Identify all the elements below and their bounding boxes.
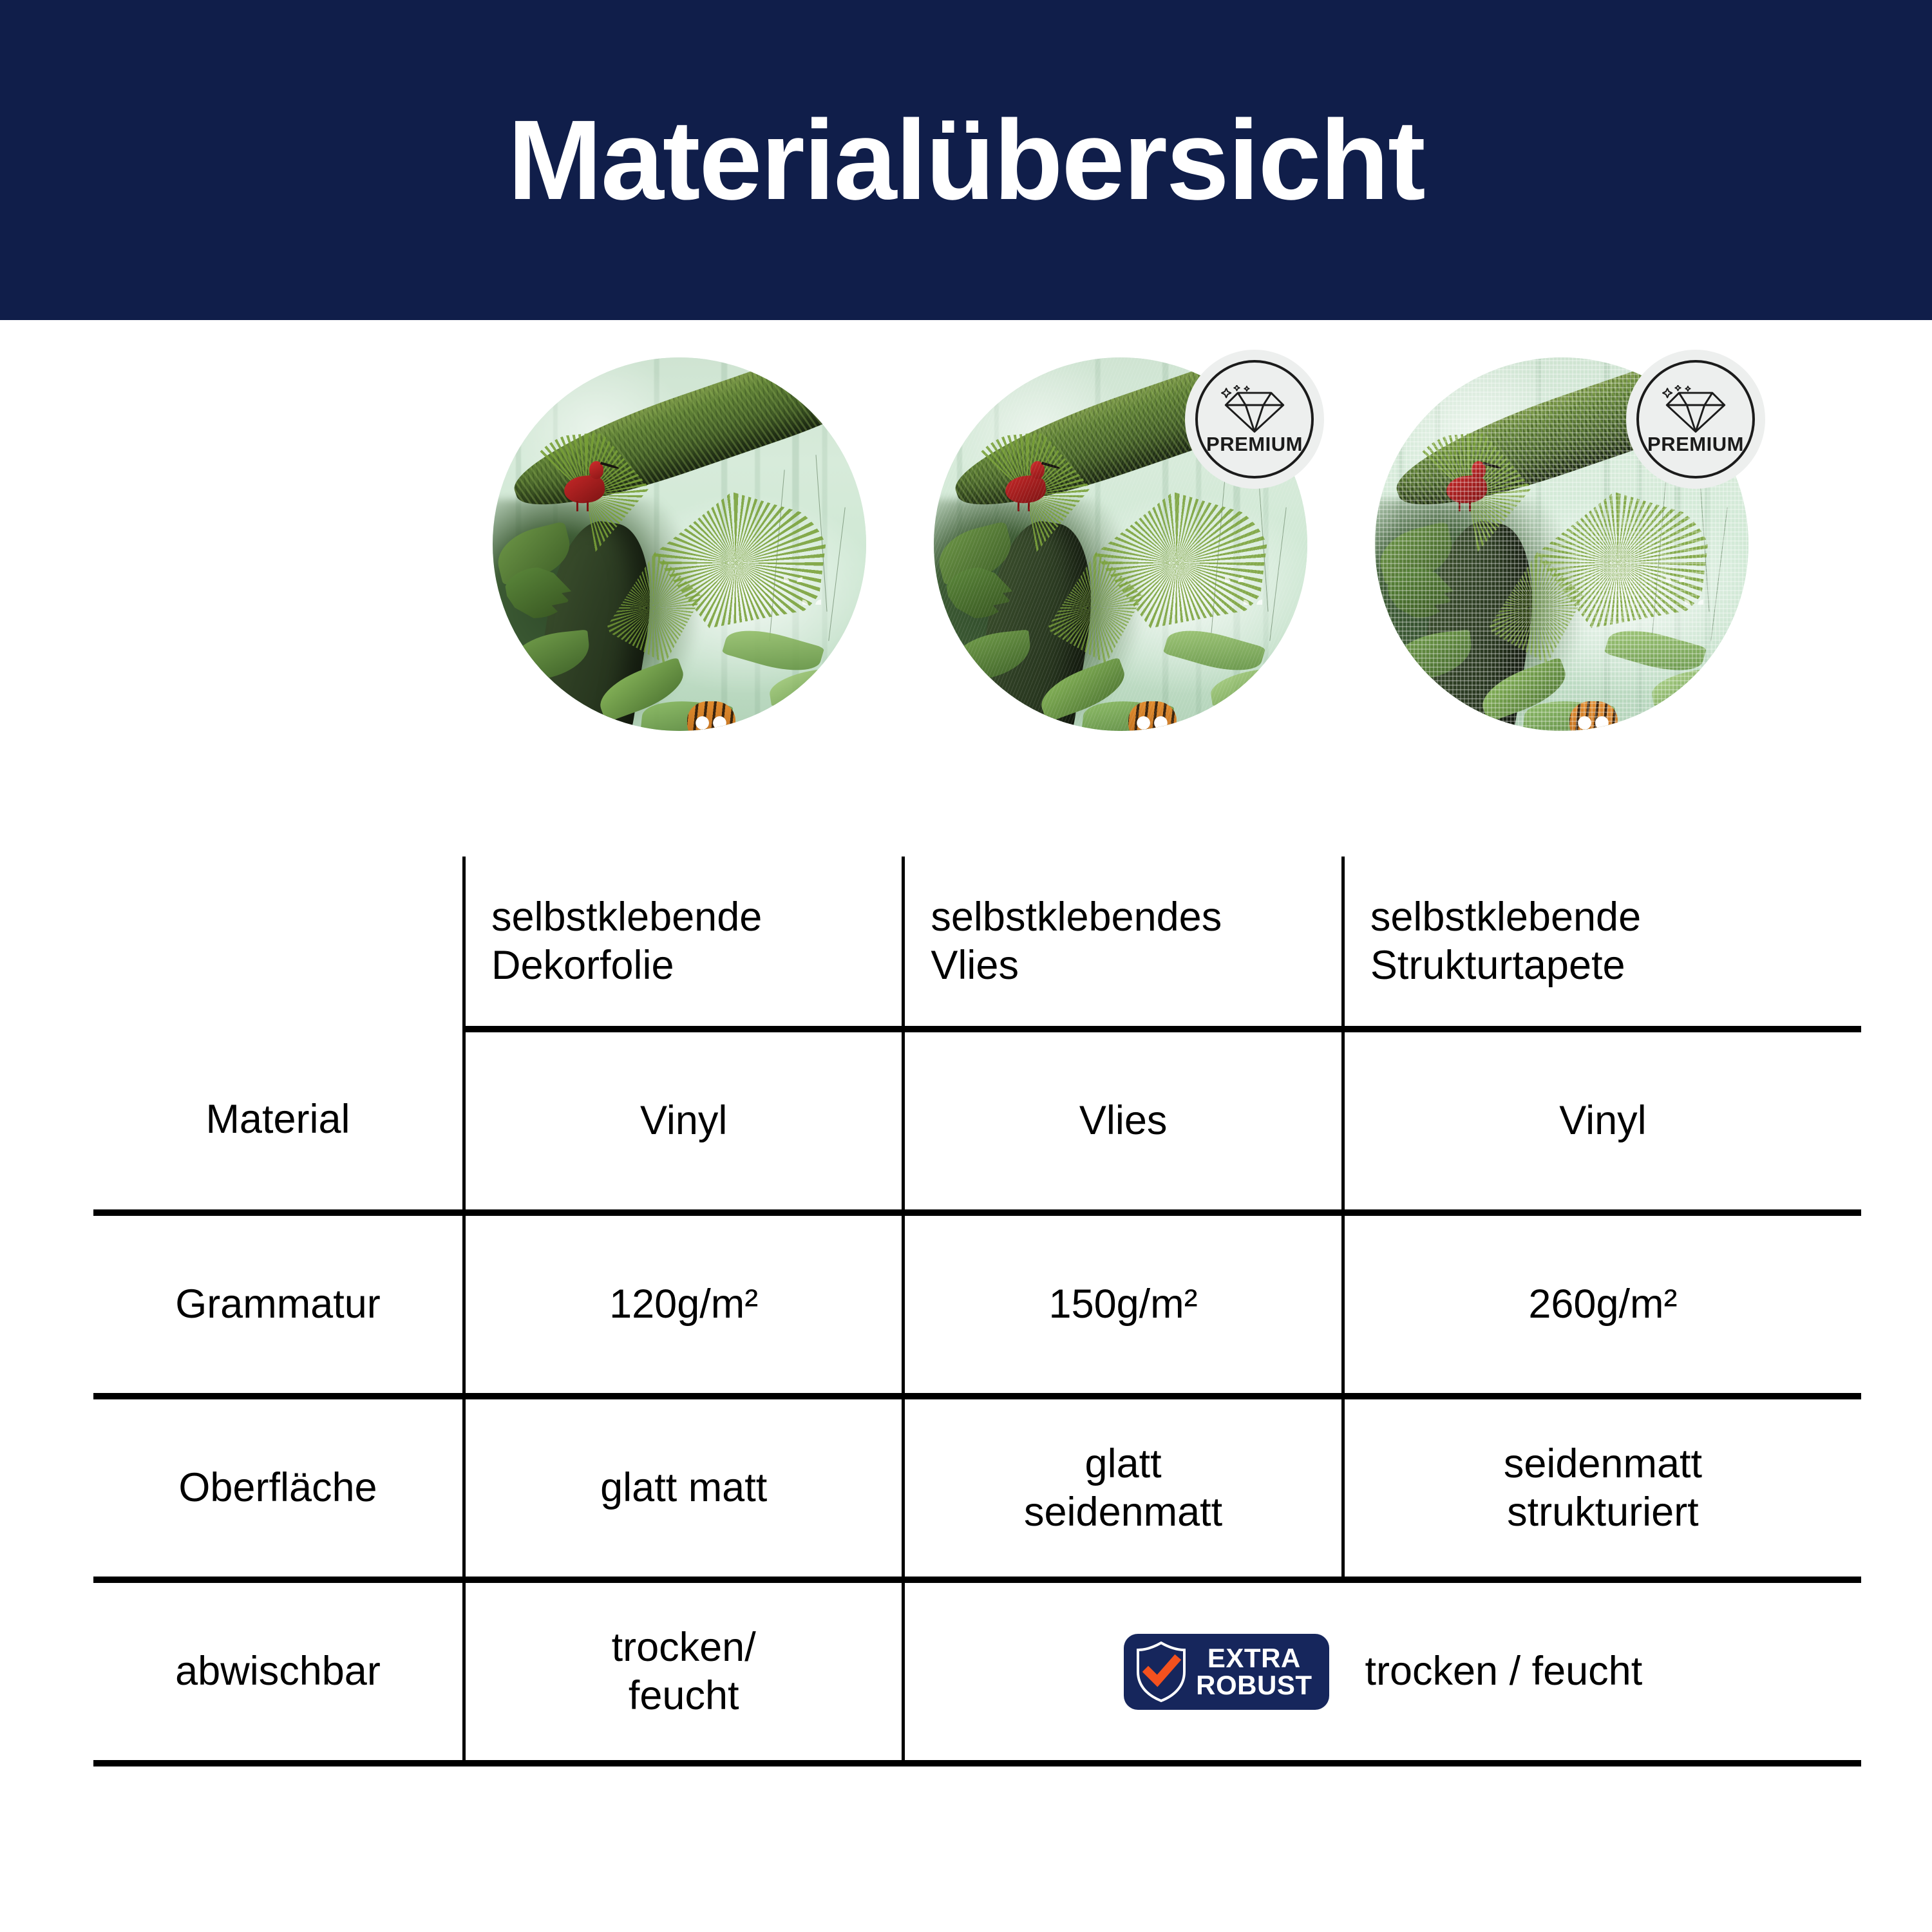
cell-material-dekorfolie: Vinyl	[464, 1029, 903, 1213]
premium-badge-vlies: PREMIUM	[1185, 350, 1324, 489]
cell-line2: feucht	[629, 1673, 739, 1718]
distant-bird-icon	[784, 574, 802, 582]
cell-line1: seidenmatt	[1504, 1441, 1702, 1486]
cell-oberflaeche-vlies: glatt seidenmatt	[904, 1396, 1343, 1580]
cell-abwischbar-merged-value: trocken / feucht	[1365, 1647, 1643, 1695]
diamond-icon	[1221, 385, 1288, 433]
cell-oberflaeche-strukturtapete: seidenmatt strukturiert	[1343, 1396, 1861, 1580]
red-ibis-bird-icon	[560, 459, 616, 511]
column-header-strukturtapete: selbstklebende Strukturtapete	[1343, 857, 1861, 1029]
row-label-oberflaeche: Oberfläche	[93, 1396, 464, 1580]
robust-badge-line2: ROBUST	[1196, 1672, 1312, 1699]
material-comparison-table: selbstklebende Dekorfolie selbstklebende…	[93, 857, 1861, 1766]
robust-badge-line1: EXTRA	[1196, 1645, 1312, 1672]
table-row-material: Material Vinyl Vlies Vinyl	[93, 1029, 1861, 1213]
tiger-face-icon	[1128, 701, 1177, 731]
cell-grammatur-strukturtapete: 260g/m²	[1343, 1213, 1861, 1396]
row-label-material: Material	[93, 1029, 464, 1213]
premium-badge-strukturtapete: PREMIUM	[1626, 350, 1765, 489]
distant-bird-icon	[1225, 574, 1244, 582]
product-preview-row: PREMIUM	[0, 357, 1932, 744]
premium-badge-label: PREMIUM	[1206, 434, 1303, 454]
distant-bird-icon	[1685, 596, 1703, 605]
cell-grammatur-vlies: 150g/m²	[904, 1213, 1343, 1396]
cell-abwischbar-dekorfolie: trocken/ feucht	[464, 1580, 903, 1763]
shield-check-icon	[1134, 1641, 1188, 1703]
column-header-line2: Dekorfolie	[491, 943, 674, 988]
product-preview-strukturtapete[interactable]: PREMIUM	[1375, 357, 1748, 731]
cell-line1: glatt	[1085, 1441, 1162, 1486]
distant-bird-icon	[1666, 574, 1685, 582]
cell-abwischbar-vlies-strukturtapete: EXTRA ROBUST trocken / feucht	[904, 1580, 1861, 1763]
cell-line2: strukturiert	[1507, 1490, 1699, 1535]
table-corner-cell	[93, 857, 464, 1029]
tiger-face-icon	[1569, 701, 1618, 731]
distant-bird-icon	[802, 596, 821, 605]
table-row-grammatur: Grammatur 120g/m² 150g/m² 260g/m²	[93, 1213, 1861, 1396]
cell-line1: trocken/	[612, 1625, 756, 1670]
red-ibis-bird-icon	[1442, 459, 1498, 511]
table-row-abwischbar: abwischbar trocken/ feucht	[93, 1580, 1861, 1763]
column-header-line1: selbstklebende	[491, 895, 762, 940]
cell-material-vlies: Vlies	[904, 1029, 1343, 1213]
table-row-oberflaeche: Oberfläche glatt matt glatt seidenmatt s…	[93, 1396, 1861, 1580]
tiger-face-icon	[687, 701, 735, 731]
page-header: Materialübersicht	[0, 0, 1932, 320]
column-header-dekorfolie: selbstklebende Dekorfolie	[464, 857, 903, 1029]
column-header-line2: Strukturtapete	[1370, 943, 1625, 988]
cell-material-strukturtapete: Vinyl	[1343, 1029, 1861, 1213]
column-header-line1: selbstklebende	[1370, 895, 1641, 940]
cell-grammatur-dekorfolie: 120g/m²	[464, 1213, 903, 1396]
extra-robust-badge: EXTRA ROBUST	[1124, 1634, 1329, 1710]
diamond-icon	[1662, 385, 1729, 433]
column-header-line1: selbstklebendes	[931, 895, 1222, 940]
column-header-line2: Vlies	[931, 943, 1019, 988]
cell-oberflaeche-dekorfolie: glatt matt	[464, 1396, 903, 1580]
row-label-grammatur: Grammatur	[93, 1213, 464, 1396]
red-ibis-bird-icon	[1001, 459, 1057, 511]
row-label-abwischbar: abwischbar	[93, 1580, 464, 1763]
product-preview-dekorfolie[interactable]	[493, 357, 866, 731]
product-image-dekorfolie	[493, 357, 866, 731]
distant-bird-icon	[1244, 596, 1262, 605]
page-title: Materialübersicht	[507, 104, 1424, 217]
product-preview-vlies[interactable]: PREMIUM	[934, 357, 1307, 731]
column-header-vlies: selbstklebendes Vlies	[904, 857, 1343, 1029]
cell-line2: seidenmatt	[1024, 1490, 1222, 1535]
premium-badge-label: PREMIUM	[1647, 434, 1744, 454]
table-header-row: selbstklebende Dekorfolie selbstklebende…	[93, 857, 1861, 1029]
